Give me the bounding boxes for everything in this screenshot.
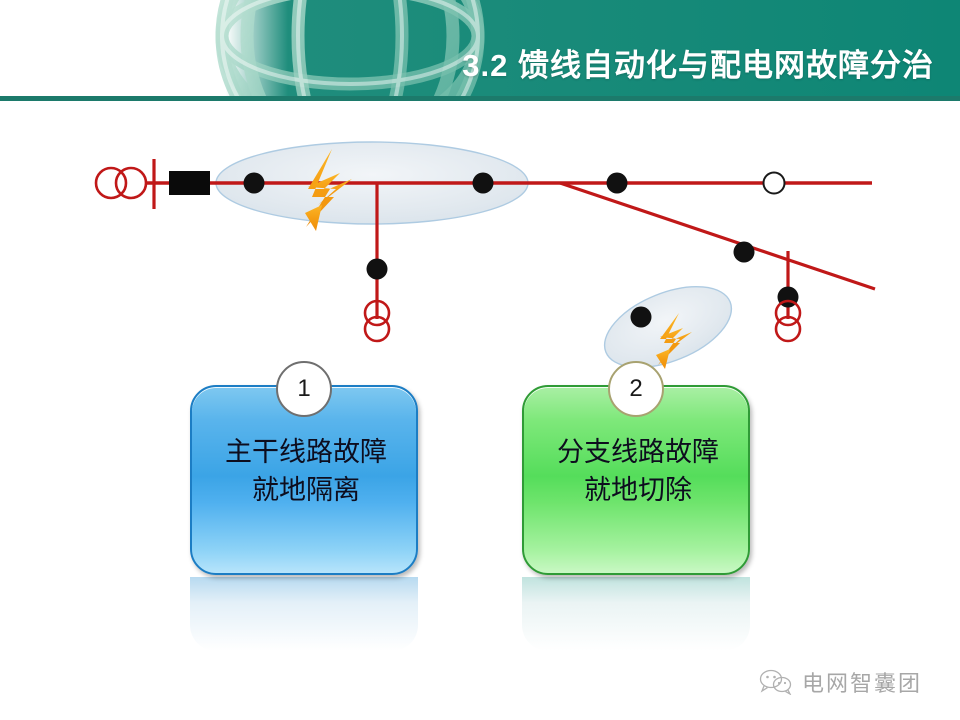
normally-open-tie-switch[interactable] — [764, 173, 785, 194]
slide: 3.2 馈线自动化与配电网故障分治 — [0, 0, 960, 720]
callout-reflection — [522, 577, 750, 651]
callout-box-1[interactable]: 1 主干线路故障 就地隔离 — [190, 385, 418, 575]
switch-node-closed[interactable] — [473, 173, 494, 194]
wechat-icon — [759, 669, 793, 695]
page-title: 3.2 馈线自动化与配电网故障分治 — [462, 40, 934, 85]
callout-box-2[interactable]: 2 分支线路故障 就地切除 — [522, 385, 750, 575]
branch-feeder-line — [560, 183, 875, 289]
transformer-symbol — [96, 168, 146, 198]
fault-zone-highlight-branch — [593, 270, 743, 383]
circuit-breaker-symbol — [169, 171, 210, 195]
switch-node-closed[interactable] — [607, 173, 628, 194]
slide-header: 3.2 馈线自动化与配电网故障分治 — [0, 0, 960, 101]
callout-reflection — [190, 577, 418, 651]
switch-node-closed[interactable] — [631, 307, 652, 328]
callout-badge-2: 2 — [608, 361, 664, 417]
callout-label-1: 主干线路故障 就地隔离 — [192, 433, 420, 509]
switch-node-closed[interactable] — [734, 242, 755, 263]
distribution-network-fault-diagram — [0, 101, 960, 401]
switch-node-closed[interactable] — [244, 173, 265, 194]
callout-label-2: 分支线路故障 就地切除 — [524, 433, 752, 509]
callout-badge-1: 1 — [276, 361, 332, 417]
watermark: 电网智囊团 — [759, 666, 922, 698]
switch-node-closed[interactable] — [367, 259, 388, 280]
watermark-text: 电网智囊团 — [802, 666, 922, 698]
